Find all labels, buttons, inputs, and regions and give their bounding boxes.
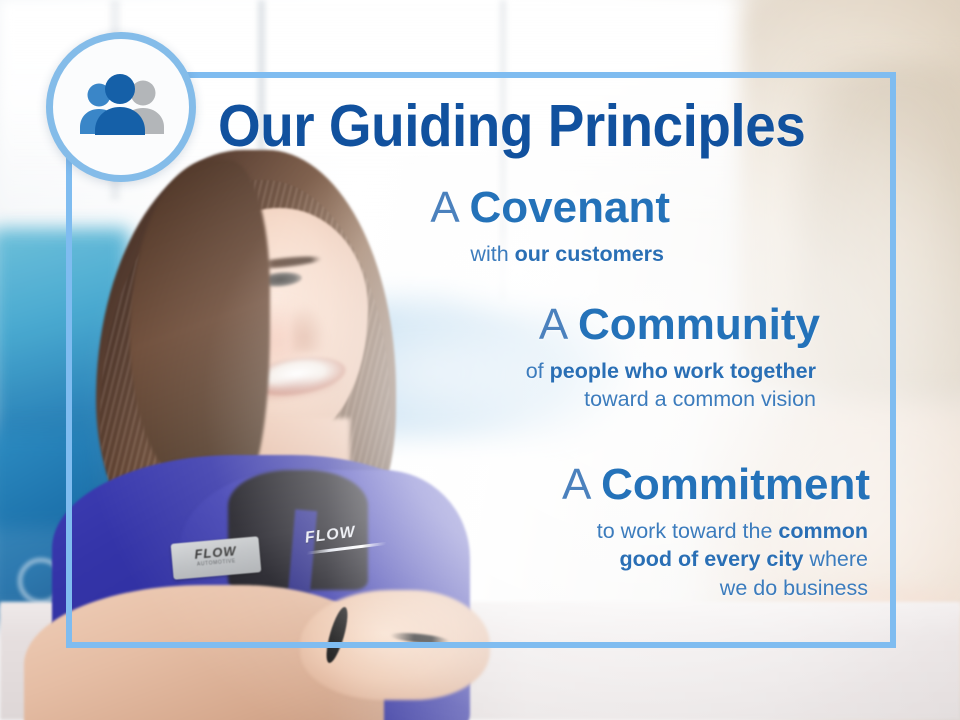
principle-subtext-line: toward a common vision	[300, 385, 816, 413]
principle-subtext-line: with our customers	[260, 240, 664, 268]
people-badge	[46, 32, 196, 182]
principle-subtext-line: to work toward the common	[350, 517, 868, 545]
page-title: Our Guiding Principles	[218, 97, 823, 156]
principle-article-3: A	[562, 460, 589, 509]
principle-block-3: A Commitment to work toward the common g…	[350, 463, 870, 602]
principle-subtext-1: with our customers	[260, 240, 670, 268]
principle-subtext-2: of people who work together toward a com…	[300, 357, 820, 414]
principle-heading-2: A Community	[300, 303, 820, 348]
principle-subtext-line: good of every city where	[350, 545, 868, 573]
guiding-principles-poster: FLOW AUTOMOTIVE FLOW Our Guiding Princip…	[0, 0, 960, 720]
principle-heading-3: A Commitment	[350, 463, 870, 508]
principle-keyword-3: Commitment	[601, 460, 870, 509]
principle-block-1: A Covenant with our customers	[260, 186, 670, 268]
employee-name-badge: FLOW AUTOMOTIVE	[171, 536, 262, 580]
principle-heading-1: A Covenant	[260, 186, 670, 231]
principle-subtext-line: we do business	[350, 574, 868, 602]
principle-subtext-3: to work toward the common good of every …	[350, 517, 870, 602]
principle-subtext-line: of people who work together	[300, 357, 816, 385]
principle-keyword-1: Covenant	[470, 183, 670, 232]
principle-article-2: A	[539, 300, 566, 349]
principle-article-1: A	[430, 183, 457, 232]
group-people-icon	[73, 72, 169, 142]
principle-block-2: A Community of people who work together …	[300, 303, 820, 414]
principle-keyword-2: Community	[578, 300, 820, 349]
